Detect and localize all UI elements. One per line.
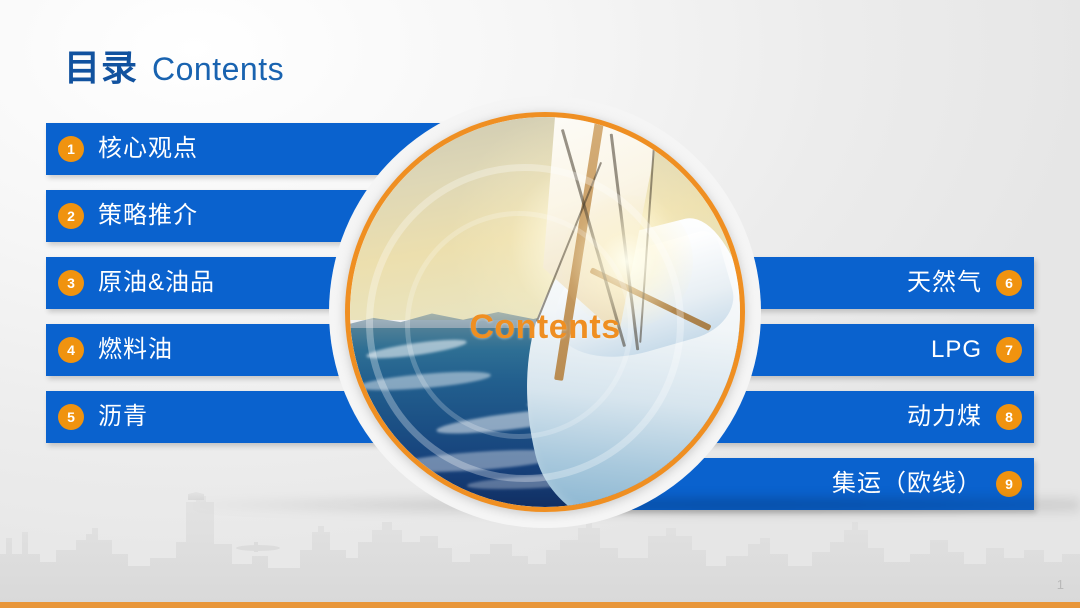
toc-badge-5: 5 (58, 404, 84, 430)
bottom-accent-strip (0, 602, 1080, 608)
toc-label-6: 天然气 (907, 271, 982, 295)
toc-badge-8: 8 (996, 404, 1022, 430)
toc-badge-1: 1 (58, 136, 84, 162)
toc-label-3: 原油&油品 (98, 271, 215, 295)
toc-badge-2: 2 (58, 203, 84, 229)
toc-badge-6: 6 (996, 270, 1022, 296)
page-title-cn: 目录 (64, 50, 138, 86)
center-photo-circle: Contents (345, 112, 745, 512)
toc-label-5: 沥青 (98, 405, 148, 429)
slide-canvas: 目录 Contents 1 核心观点 2 策略推介 3 原油&油品 4 燃料油 … (0, 0, 1080, 608)
toc-badge-4: 4 (58, 337, 84, 363)
sailboat-ocean-photo: Contents (350, 117, 740, 507)
toc-label-4: 燃料油 (98, 338, 173, 362)
toc-badge-7: 7 (996, 337, 1022, 363)
toc-label-7: LPG (931, 338, 982, 362)
page-number: 1 (1057, 577, 1064, 592)
page-title: 目录 Contents (64, 50, 284, 86)
toc-label-1: 核心观点 (98, 137, 198, 161)
page-title-en: Contents (152, 53, 284, 85)
toc-label-8: 动力煤 (907, 405, 982, 429)
toc-label-2: 策略推介 (98, 204, 198, 228)
center-contents-label: Contents (350, 308, 740, 347)
toc-badge-3: 3 (58, 270, 84, 296)
